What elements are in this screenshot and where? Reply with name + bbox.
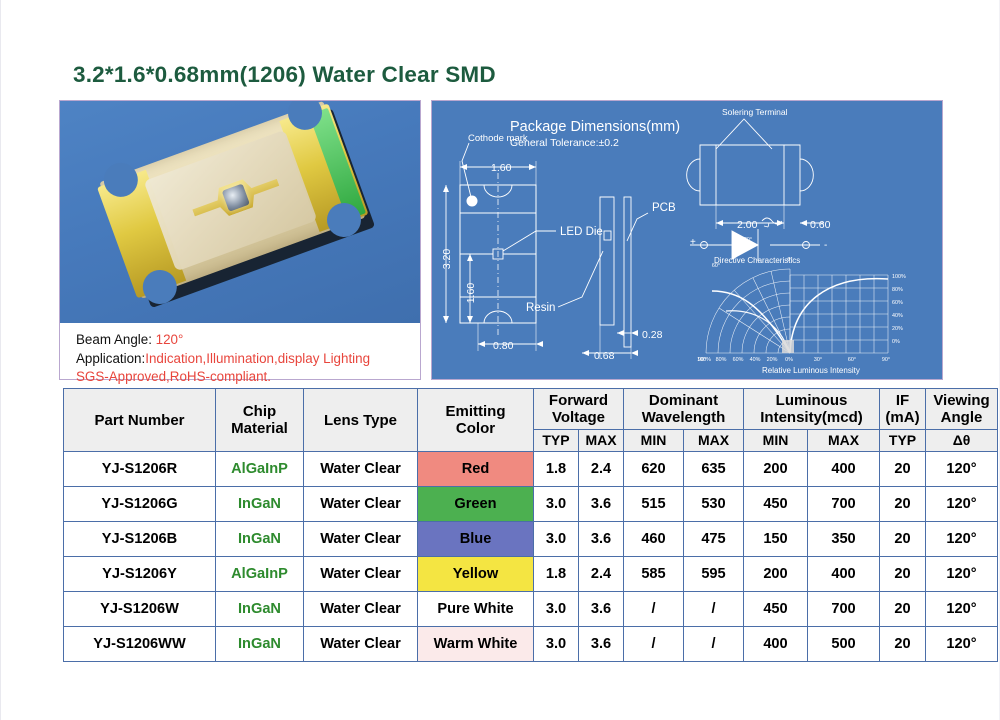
- emitting-color-cell: Warm White: [418, 627, 534, 662]
- col-viewing-angle: ViewingAngle: [926, 389, 998, 430]
- datasheet-page: 3.2*1.6*0.68mm(1206) Water Clear SMD: [0, 0, 1000, 720]
- led-product-photo: [60, 101, 420, 323]
- viewing-angle-cell: 120°: [926, 592, 998, 627]
- viewing-angle-cell: 120°: [926, 452, 998, 487]
- label-relative-luminous-intensity: Relative Luminous Intensity: [762, 366, 860, 375]
- vf-typ-cell: 3.0: [534, 522, 579, 557]
- polar-tick: 80%: [716, 357, 727, 363]
- chip-material-cell: InGaN: [216, 592, 304, 627]
- application-label: Application:: [76, 351, 145, 366]
- polar-tick: 100%: [892, 274, 906, 280]
- col-lens-type: Lens Type: [304, 389, 418, 452]
- compliance-line: SGS-Approved,RoHS-compliant.: [76, 368, 420, 387]
- table-row: YJ-S1206WInGaNWater ClearPure White3.03.…: [64, 592, 998, 627]
- polarity-plus: +: [690, 237, 696, 248]
- wavelength-min-cell: 460: [624, 522, 684, 557]
- subcol-iv-max: MAX: [808, 430, 880, 452]
- intensity-min-cell: 400: [744, 627, 808, 662]
- diagram-heading: Package Dimensions(mm): [510, 119, 680, 135]
- polar-tick: 60°: [848, 357, 856, 363]
- package-dimensions-panel: Package Dimensions(mm) General Tolerance…: [431, 100, 943, 380]
- emitting-color-cell: Green: [418, 487, 534, 522]
- chip-material-cell: AlGaInP: [216, 452, 304, 487]
- vf-max-cell: 2.4: [579, 557, 624, 592]
- part-number-cell: YJ-S1206B: [64, 522, 216, 557]
- intensity-max-cell: 500: [808, 627, 880, 662]
- if-typ-cell: 20: [880, 487, 926, 522]
- application-line: Application:Indication,Illumination,disp…: [76, 350, 420, 369]
- intensity-max-cell: 400: [808, 452, 880, 487]
- label-pcb: PCB: [652, 202, 676, 214]
- intensity-max-cell: 400: [808, 557, 880, 592]
- dim-thickness-total: 0.68: [594, 350, 615, 362]
- polar-tick: 30°: [744, 237, 752, 243]
- if-typ-cell: 20: [880, 522, 926, 557]
- col-part-number: Part Number: [64, 389, 216, 452]
- viewing-angle-cell: 120°: [926, 557, 998, 592]
- if-typ-cell: 20: [880, 452, 926, 487]
- viewing-angle-cell: 120°: [926, 627, 998, 662]
- label-cathode-mark: Cothode mark: [468, 133, 528, 144]
- polar-tick: 20%: [767, 357, 778, 363]
- chip-material-cell: InGaN: [216, 522, 304, 557]
- dim-width-top: 1.60: [491, 162, 512, 174]
- wavelength-max-cell: 530: [684, 487, 744, 522]
- col-chip-material: ChipMaterial: [216, 389, 304, 452]
- vf-max-cell: 3.6: [579, 627, 624, 662]
- subcol-viewing-angle: Δθ: [926, 430, 998, 452]
- dim-terminal-span: 2.00: [737, 219, 758, 231]
- wavelength-min-cell: 515: [624, 487, 684, 522]
- wavelength-min-cell: 620: [624, 452, 684, 487]
- polar-tick: 40%: [750, 357, 761, 363]
- beam-angle-value: 120°: [156, 332, 184, 347]
- lens-type-cell: Water Clear: [304, 592, 418, 627]
- polar-tick: 80%: [892, 287, 903, 293]
- part-number-cell: YJ-S1206Y: [64, 557, 216, 592]
- beam-angle-label: Beam Angle:: [76, 332, 156, 347]
- polar-tick: 0%: [892, 339, 900, 345]
- intensity-min-cell: 150: [744, 522, 808, 557]
- polar-tick: 20%: [892, 326, 903, 332]
- intensity-max-cell: 700: [808, 487, 880, 522]
- led-package-illustration: [97, 101, 388, 323]
- dimension-drawing: Package Dimensions(mm) General Tolerance…: [432, 101, 942, 379]
- if-typ-cell: 20: [880, 592, 926, 627]
- chip-material-cell: InGaN: [216, 627, 304, 662]
- if-typ-cell: 20: [880, 557, 926, 592]
- col-dominant-wavelength: DominantWavelength: [624, 389, 744, 430]
- viewing-angle-cell: 120°: [926, 522, 998, 557]
- subcol-wl-max: MAX: [684, 430, 744, 452]
- subcol-if-typ: TYP: [880, 430, 926, 452]
- wavelength-max-cell: 595: [684, 557, 744, 592]
- dim-terminal-edge: 0.60: [810, 219, 831, 231]
- viewing-angle-cell: 120°: [926, 487, 998, 522]
- beam-angle-line: Beam Angle: 120°: [76, 331, 420, 350]
- label-soldering-terminal: Solering Terminal: [722, 107, 788, 117]
- wavelength-max-cell: 475: [684, 522, 744, 557]
- package-dimension-svg: Package Dimensions(mm) General Tolerance…: [432, 101, 942, 379]
- polar-tick: 60%: [733, 357, 744, 363]
- polar-tick: 60%: [892, 300, 903, 306]
- photo-caption: Beam Angle: 120° Application:Indication,…: [60, 323, 420, 379]
- emitting-color-cell: Pure White: [418, 592, 534, 627]
- lens-type-cell: Water Clear: [304, 627, 418, 662]
- intensity-min-cell: 200: [744, 452, 808, 487]
- chip-material-cell: AlGaInP: [216, 557, 304, 592]
- application-value: Indication,Illumination,display Lighting: [145, 351, 370, 366]
- table-row: YJ-S1206BInGaNWater ClearBlue3.03.646047…: [64, 522, 998, 557]
- vf-max-cell: 3.6: [579, 592, 624, 627]
- lens-type-cell: Water Clear: [304, 557, 418, 592]
- subcol-wl-min: MIN: [624, 430, 684, 452]
- vf-max-cell: 2.4: [579, 452, 624, 487]
- label-resin: Resin: [526, 302, 555, 314]
- vf-max-cell: 3.6: [579, 487, 624, 522]
- wavelength-min-cell: /: [624, 592, 684, 627]
- col-emitting-color: EmittingColor: [418, 389, 534, 452]
- polar-tick: 40%: [892, 313, 903, 319]
- dim-thickness-pcb: 0.28: [642, 329, 663, 341]
- vf-typ-cell: 1.8: [534, 557, 579, 592]
- page-title: 3.2*1.6*0.68mm(1206) Water Clear SMD: [73, 62, 496, 88]
- dim-height-inner: 1.60: [465, 283, 477, 304]
- polar-tick: 100%: [697, 357, 711, 363]
- polar-tick: 60°: [712, 263, 720, 269]
- polar-tick: 30°: [814, 357, 822, 363]
- intensity-min-cell: 450: [744, 592, 808, 627]
- emitting-color-cell: Blue: [418, 522, 534, 557]
- chip-material-cell: InGaN: [216, 487, 304, 522]
- table-row: YJ-S1206GInGaNWater ClearGreen3.03.65155…: [64, 487, 998, 522]
- polar-tick: 0°: [787, 257, 792, 263]
- wavelength-max-cell: /: [684, 592, 744, 627]
- polar-tick: 90°: [882, 357, 890, 363]
- vf-typ-cell: 1.8: [534, 452, 579, 487]
- label-led-die: LED Die: [560, 226, 603, 238]
- vf-typ-cell: 3.0: [534, 592, 579, 627]
- lens-type-cell: Water Clear: [304, 487, 418, 522]
- col-forward-voltage: ForwardVoltage: [534, 389, 624, 430]
- subcol-iv-min: MIN: [744, 430, 808, 452]
- lens-type-cell: Water Clear: [304, 522, 418, 557]
- intensity-max-cell: 700: [808, 592, 880, 627]
- subcol-vf-typ: TYP: [534, 430, 579, 452]
- intensity-max-cell: 350: [808, 522, 880, 557]
- polar-tick: 0%: [785, 357, 793, 363]
- emitting-color-cell: Yellow: [418, 557, 534, 592]
- part-number-cell: YJ-S1206WW: [64, 627, 216, 662]
- dim-width-bottom: 0.80: [493, 340, 514, 352]
- wavelength-max-cell: 635: [684, 452, 744, 487]
- if-typ-cell: 20: [880, 627, 926, 662]
- part-number-cell: YJ-S1206R: [64, 452, 216, 487]
- led-specification-table: Part Number ChipMaterial Lens Type Emitt…: [63, 388, 998, 662]
- col-luminous-intensity: LuminousIntensity(mcd): [744, 389, 880, 430]
- wavelength-min-cell: /: [624, 627, 684, 662]
- vf-typ-cell: 3.0: [534, 487, 579, 522]
- intensity-min-cell: 200: [744, 557, 808, 592]
- part-number-cell: YJ-S1206G: [64, 487, 216, 522]
- col-if: IF(mA): [880, 389, 926, 430]
- polarity-minus: -: [824, 240, 827, 251]
- dim-height-total: 3.20: [441, 249, 453, 270]
- table-row: YJ-S1206YAlGaInPWater ClearYellow1.82.45…: [64, 557, 998, 592]
- lens-type-cell: Water Clear: [304, 452, 418, 487]
- intensity-min-cell: 450: [744, 487, 808, 522]
- emitting-color-cell: Red: [418, 452, 534, 487]
- subcol-vf-max: MAX: [579, 430, 624, 452]
- part-number-cell: YJ-S1206W: [64, 592, 216, 627]
- wavelength-max-cell: /: [684, 627, 744, 662]
- vf-max-cell: 3.6: [579, 522, 624, 557]
- table-row: YJ-S1206WWInGaNWater ClearWarm White3.03…: [64, 627, 998, 662]
- table-row: YJ-S1206RAlGaInPWater ClearRed1.82.46206…: [64, 452, 998, 487]
- vf-typ-cell: 3.0: [534, 627, 579, 662]
- wavelength-min-cell: 585: [624, 557, 684, 592]
- product-photo-panel: Beam Angle: 120° Application:Indication,…: [59, 100, 421, 380]
